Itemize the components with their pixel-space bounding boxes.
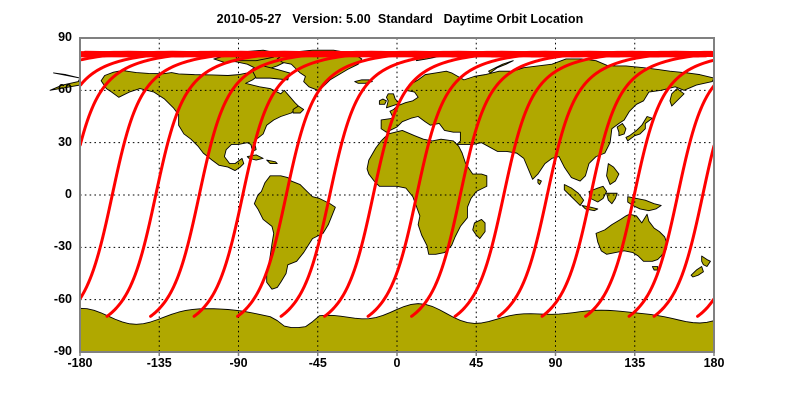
xtick-label--45: -45 (288, 356, 348, 370)
xtick-label--135: -135 (129, 356, 189, 370)
xtick-label-180: 180 (684, 356, 744, 370)
ytick-label--30: -30 (28, 239, 72, 253)
ytick-label-60: 60 (28, 82, 72, 96)
ytick-label--60: -60 (28, 292, 72, 306)
landmass-ireland (379, 99, 386, 104)
xtick-label-0: 0 (367, 356, 427, 370)
ytick-label-90: 90 (28, 30, 72, 44)
xtick-label--90: -90 (209, 356, 269, 370)
xtick-label-45: 45 (446, 356, 506, 370)
ytick-label-0: 0 (28, 187, 72, 201)
orbit-location-map (0, 0, 800, 400)
xtick-label--180: -180 (50, 356, 110, 370)
xtick-label-90: 90 (526, 356, 586, 370)
xtick-label-135: 135 (605, 356, 665, 370)
ytick-label-30: 30 (28, 135, 72, 149)
